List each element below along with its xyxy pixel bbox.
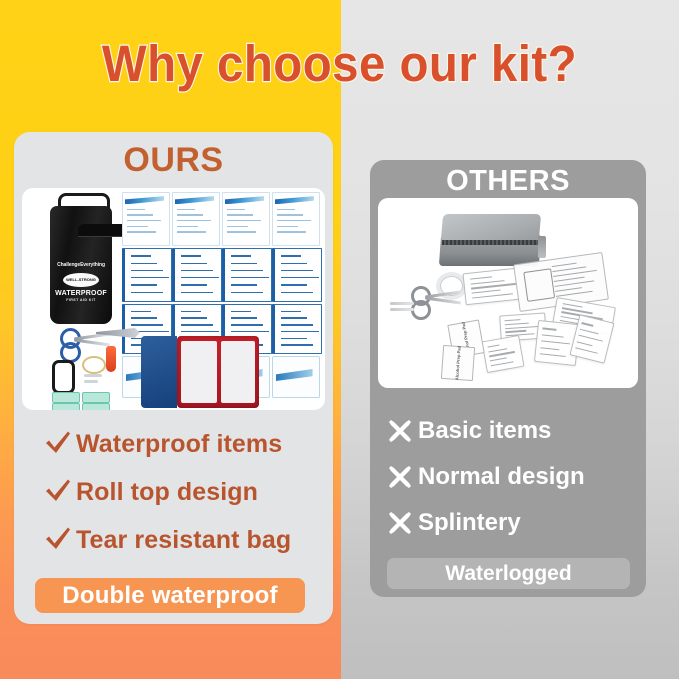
ours-feature-list: Waterproof items Roll top design Tear re…	[40, 420, 330, 564]
others-feature-label: Normal design	[418, 463, 585, 491]
supply-pack	[222, 248, 272, 302]
dry-bag-kit-text: FIRST AID KIT	[52, 298, 110, 302]
supply-pack	[272, 192, 320, 246]
ours-feature-row: Roll top design	[40, 468, 330, 516]
whistle-icon	[106, 346, 116, 372]
pouch-zipper	[442, 240, 539, 245]
page-title: Why choose our kit?	[24, 34, 655, 94]
scissor-ring	[411, 300, 431, 320]
others-feature-row: Normal design	[382, 454, 646, 500]
others-product-photo: Alcohol Prep Pad Alcohol Prep Pad	[378, 198, 638, 388]
others-feature-row: Splintery	[382, 500, 646, 546]
alcohol-pad-label: Alcohol Prep Pad	[454, 346, 461, 381]
ours-feature-label: Tear resistant bag	[76, 526, 291, 555]
red-first-aid-pouch	[177, 336, 259, 408]
zipper-pull-icon	[538, 236, 546, 258]
ours-card: OURS ChallengeEverything WELL-STRONG WAT…	[14, 132, 333, 624]
safety-pin-icon	[84, 380, 98, 383]
check-icon	[40, 477, 76, 507]
pouch-flap	[441, 214, 541, 240]
safety-pin-icon	[390, 302, 414, 305]
others-feature-row: Basic items	[382, 408, 646, 454]
scissor-blade	[425, 297, 461, 305]
supply-pack	[122, 192, 170, 246]
dry-bag-logo-oval: WELL-STRONG	[63, 273, 99, 287]
others-header: OTHERS	[370, 163, 646, 200]
ours-feature-row: Waterproof items	[40, 420, 330, 468]
gray-pouch	[440, 214, 544, 266]
others-feature-label: Basic items	[418, 417, 551, 445]
dry-bag-brand-text: ChallengeEverything	[52, 262, 110, 268]
cpr-figure-icon	[523, 268, 555, 302]
safety-pin-icon	[390, 308, 414, 311]
gold-ring-icon	[82, 356, 106, 374]
bandage-strip	[52, 392, 80, 403]
supply-pack	[272, 248, 322, 302]
double-waterproof-badge[interactable]: Double waterproof	[35, 578, 305, 613]
ours-feature-row: Tear resistant bag	[40, 516, 330, 564]
ours-feature-label: Waterproof items	[76, 430, 282, 459]
supply-pack	[272, 304, 322, 354]
others-card: OTHERS Alcohol Prep Pad	[370, 160, 646, 597]
gauze-pack	[482, 335, 525, 373]
supply-pack	[172, 248, 222, 302]
others-feature-label: Splintery	[418, 509, 521, 537]
ours-product-photo: ChallengeEverything WELL-STRONG WATERPRO…	[22, 188, 325, 410]
red-pouch-left-panel	[141, 336, 177, 408]
safety-pin-icon	[84, 374, 102, 377]
check-icon	[40, 429, 76, 459]
dry-bag-logo-text: WELL-STRONG	[63, 273, 99, 287]
comparison-infographic: Why choose our kit? OURS ChallengeEveryt…	[0, 0, 679, 679]
supply-pack	[272, 356, 320, 398]
ours-header: OURS	[14, 138, 333, 182]
ours-feature-label: Roll top design	[76, 478, 258, 507]
x-icon	[382, 418, 418, 444]
pouch-compartment	[181, 341, 217, 403]
x-icon	[382, 510, 418, 536]
alcohol-prep-pad: Alcohol Prep Pad	[441, 345, 475, 381]
dry-bag-waterproof-text: WATERPROOF	[52, 290, 110, 297]
gray-scissors-icon	[411, 284, 461, 314]
x-icon	[382, 464, 418, 490]
check-icon	[40, 525, 76, 555]
bandage-strip	[52, 403, 80, 410]
supply-pack	[122, 248, 172, 302]
supply-pack	[172, 192, 220, 246]
pouch-compartment	[221, 341, 255, 403]
bandage-strip	[82, 392, 110, 403]
others-feature-list: Basic items Normal design Splintery	[382, 408, 646, 546]
supply-pack	[222, 192, 270, 246]
waterlogged-badge[interactable]: Waterlogged	[387, 558, 630, 589]
carabiner-icon	[52, 360, 75, 394]
bandage-strip	[82, 403, 110, 410]
